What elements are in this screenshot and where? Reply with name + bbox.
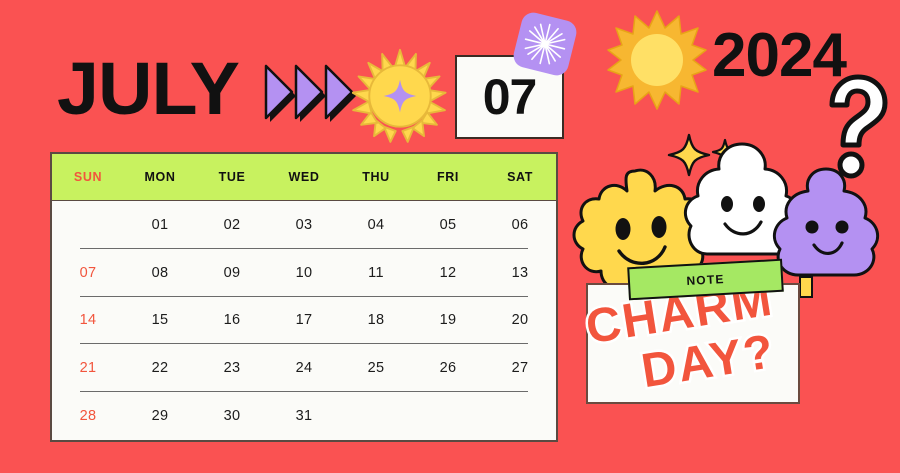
date-cell[interactable]: 31 — [268, 408, 340, 424]
sun-icon — [607, 10, 707, 110]
date-cell[interactable]: 26 — [412, 360, 484, 376]
date-cell[interactable]: 09 — [196, 265, 268, 281]
date-cell[interactable]: 04 — [340, 217, 412, 233]
date-cell[interactable]: 17 — [268, 312, 340, 328]
date-cell[interactable]: 24 — [268, 360, 340, 376]
date-cell[interactable]: 07 — [52, 265, 124, 281]
date-cell[interactable]: 06 — [484, 217, 556, 233]
weekday-label-thu: THU — [340, 170, 412, 184]
weekday-label-sat: SAT — [484, 170, 556, 184]
date-cell[interactable]: 19 — [412, 312, 484, 328]
note-card — [586, 283, 800, 404]
calendar-week-row: 07 08 09 10 11 12 13 — [52, 249, 556, 297]
date-cell[interactable]: 21 — [52, 360, 124, 376]
calendar-week-row: 01 02 03 04 05 06 — [52, 201, 556, 249]
date-cell[interactable]: 25 — [340, 360, 412, 376]
date-cell[interactable]: 27 — [484, 360, 556, 376]
date-cell[interactable]: 15 — [124, 312, 196, 328]
date-cell[interactable]: 22 — [124, 360, 196, 376]
calendar-week-row: 14 15 16 17 18 19 20 — [52, 297, 556, 345]
date-cell[interactable]: 29 — [124, 408, 196, 424]
day-number: 07 — [483, 68, 537, 126]
date-cell[interactable]: 16 — [196, 312, 268, 328]
note-scene: CHARM DAY? NOTE — [565, 130, 900, 473]
weekday-label-fri: FRI — [412, 170, 484, 184]
calendar-week-row: 28 29 30 31 — [52, 392, 556, 440]
date-cell[interactable]: 08 — [124, 265, 196, 281]
date-cell[interactable]: 11 — [340, 265, 412, 281]
date-cell[interactable]: 01 — [124, 217, 196, 233]
date-cell[interactable]: 05 — [412, 217, 484, 233]
date-cell[interactable]: 28 — [52, 408, 124, 424]
calendar-grid: 01 02 03 04 05 06 07 08 09 10 11 12 13 1… — [52, 201, 556, 440]
triple-chevron-right-icon — [262, 60, 362, 130]
calendar-weekday-header: SUN MON TUE WED THU FRI SAT — [52, 154, 556, 201]
date-cell[interactable]: 14 — [52, 312, 124, 328]
date-cell[interactable]: 02 — [196, 217, 268, 233]
date-cell[interactable]: 10 — [268, 265, 340, 281]
date-cell[interactable]: 03 — [268, 217, 340, 233]
date-cell[interactable]: 30 — [196, 408, 268, 424]
note-tab-label: NOTE — [686, 271, 725, 287]
date-cell[interactable]: 20 — [484, 312, 556, 328]
calendar-week-row: 21 22 23 24 25 26 27 — [52, 344, 556, 392]
date-cell[interactable]: 12 — [412, 265, 484, 281]
date-cell[interactable]: 13 — [484, 265, 556, 281]
weekday-label-mon: MON — [124, 170, 196, 184]
weekday-label-tue: TUE — [196, 170, 268, 184]
date-cell[interactable]: 23 — [196, 360, 268, 376]
weekday-label-sun: SUN — [52, 170, 124, 184]
calendar-card: SUN MON TUE WED THU FRI SAT 01 02 03 04 … — [50, 152, 558, 442]
weekday-label-wed: WED — [268, 170, 340, 184]
date-cell[interactable]: 18 — [340, 312, 412, 328]
sunburst-star-icon — [352, 48, 448, 144]
month-title: JULY — [57, 52, 239, 126]
calendar-poster: JULY — [0, 0, 900, 473]
